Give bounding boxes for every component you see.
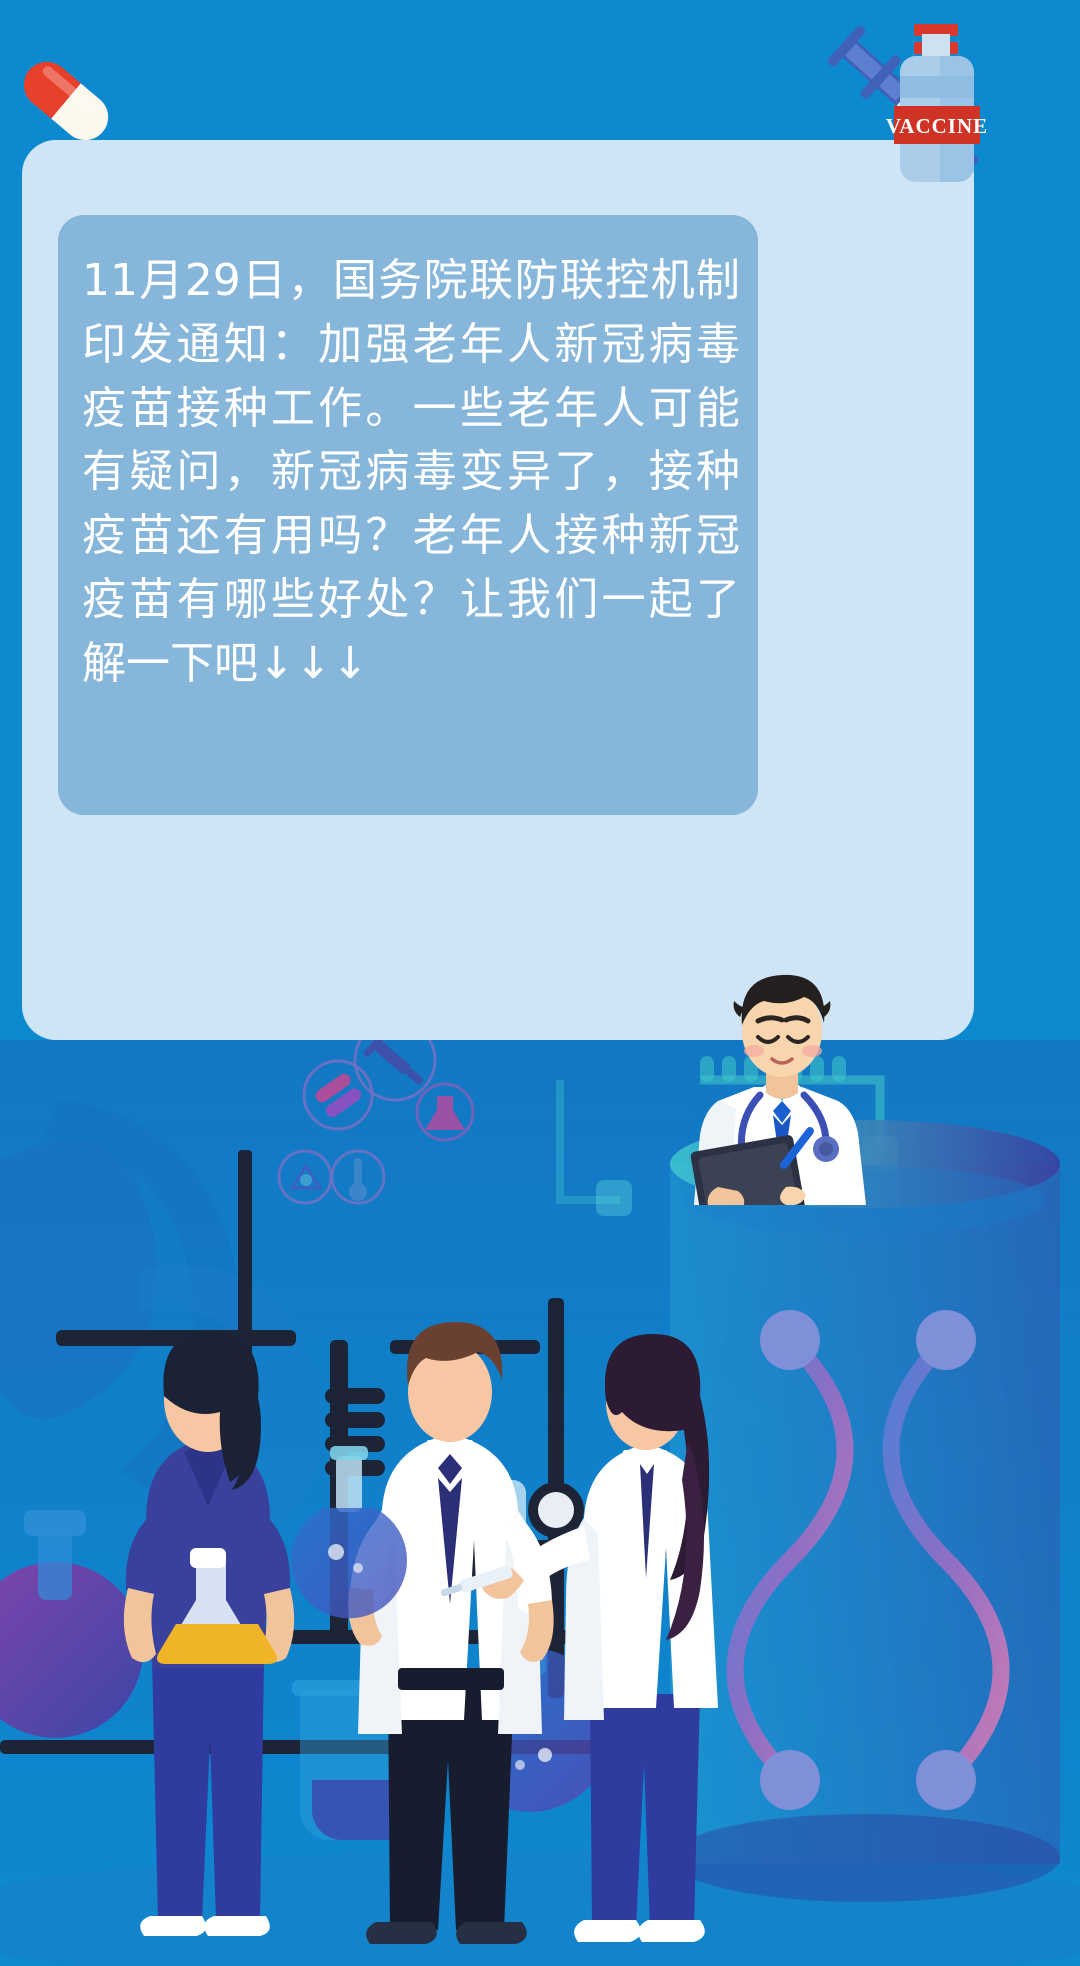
announcement-panel: 11月29日，国务院联防联控机制印发通知：加强老年人新冠病毒疫苗接种工作。一些老… (58, 215, 758, 815)
poster-background: VACCINE 11月29日，国务院联防联控机制印发通知：加强老年人新冠病毒疫苗… (0, 0, 1080, 1966)
announcement-body-text: 11月29日，国务院联防联控机制印发通知：加强老年人新冠病毒疫苗接种工作。一些老… (82, 249, 740, 696)
doctor-illustration (660, 905, 900, 1205)
lab-scene-svg (0, 1040, 1080, 1966)
vial-body: VACCINE (886, 24, 988, 182)
doctor-svg (660, 905, 900, 1205)
vial-syringe-svg: VACCINE (822, 14, 1062, 204)
vial-label-text: VACCINE (886, 114, 988, 138)
lab-scene-illustration (0, 1040, 1080, 1966)
vaccine-vial-illustration: VACCINE (822, 14, 1062, 204)
